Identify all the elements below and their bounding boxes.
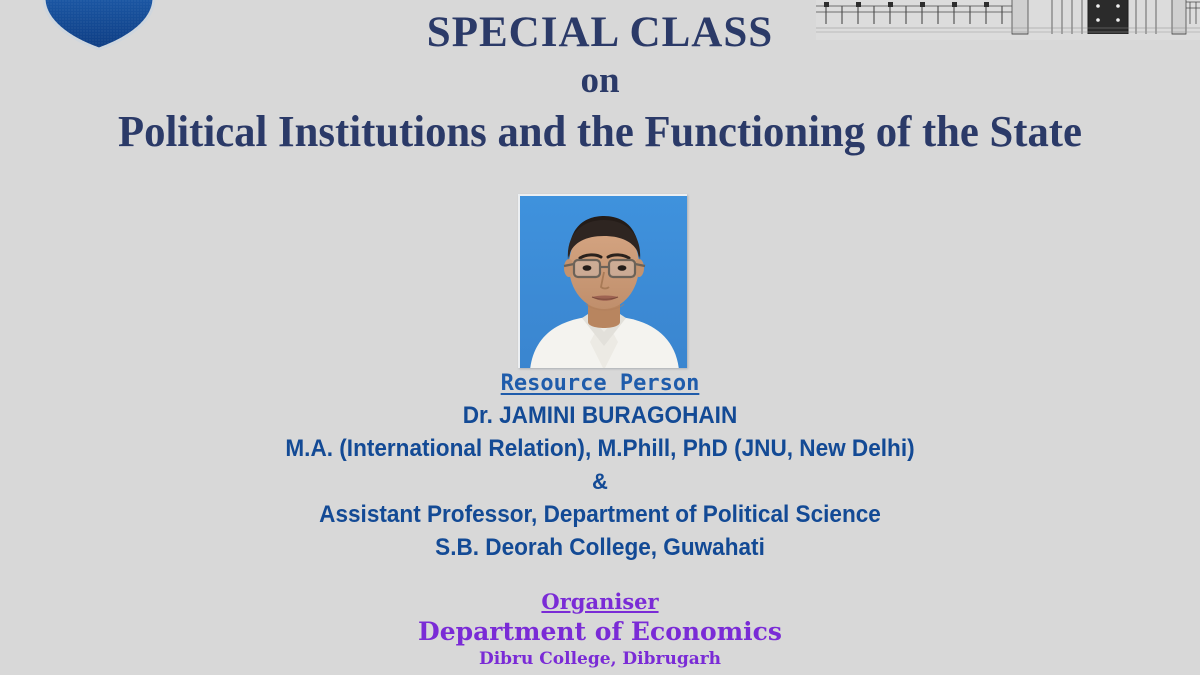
organiser-block: Organiser Department of Economics Dibru … bbox=[0, 588, 1200, 671]
headline-block: SPECIAL CLASS on Political Institutions … bbox=[0, 0, 1200, 158]
resource-person-label: Resource Person bbox=[0, 370, 1200, 398]
page-title: Political Institutions and the Functioni… bbox=[18, 106, 1182, 158]
resource-person-photo bbox=[518, 194, 687, 368]
resource-person-block: Resource Person Dr. JAMINI BURAGOHAIN M.… bbox=[0, 370, 1200, 564]
portrait-illustration bbox=[520, 196, 687, 368]
resource-person-institution: S.B. Deorah College, Guwahati bbox=[36, 531, 1164, 564]
organiser-college: Dibru College, Dibrugarh bbox=[0, 648, 1200, 671]
resource-person-ampersand: & bbox=[0, 465, 1200, 498]
eyebrow-special-class: SPECIAL CLASS bbox=[0, 0, 1200, 57]
portrait-image bbox=[520, 196, 687, 368]
resource-person-designation: Assistant Professor, Department of Polit… bbox=[36, 498, 1164, 531]
organiser-label: Organiser bbox=[0, 588, 1200, 615]
organiser-department: Department of Economics bbox=[0, 616, 1200, 647]
resource-person-qualifications: M.A. (International Relation), M.Phill, … bbox=[36, 432, 1164, 465]
resource-person-label-text: Resource Person bbox=[501, 371, 700, 396]
resource-person-name: Dr. JAMINI BURAGOHAIN bbox=[36, 399, 1164, 432]
poster-canvas: ডিব্রু কলেজ bbox=[0, 0, 1200, 675]
headline-connector: on bbox=[0, 59, 1200, 103]
organiser-label-text: Organiser bbox=[541, 589, 658, 614]
